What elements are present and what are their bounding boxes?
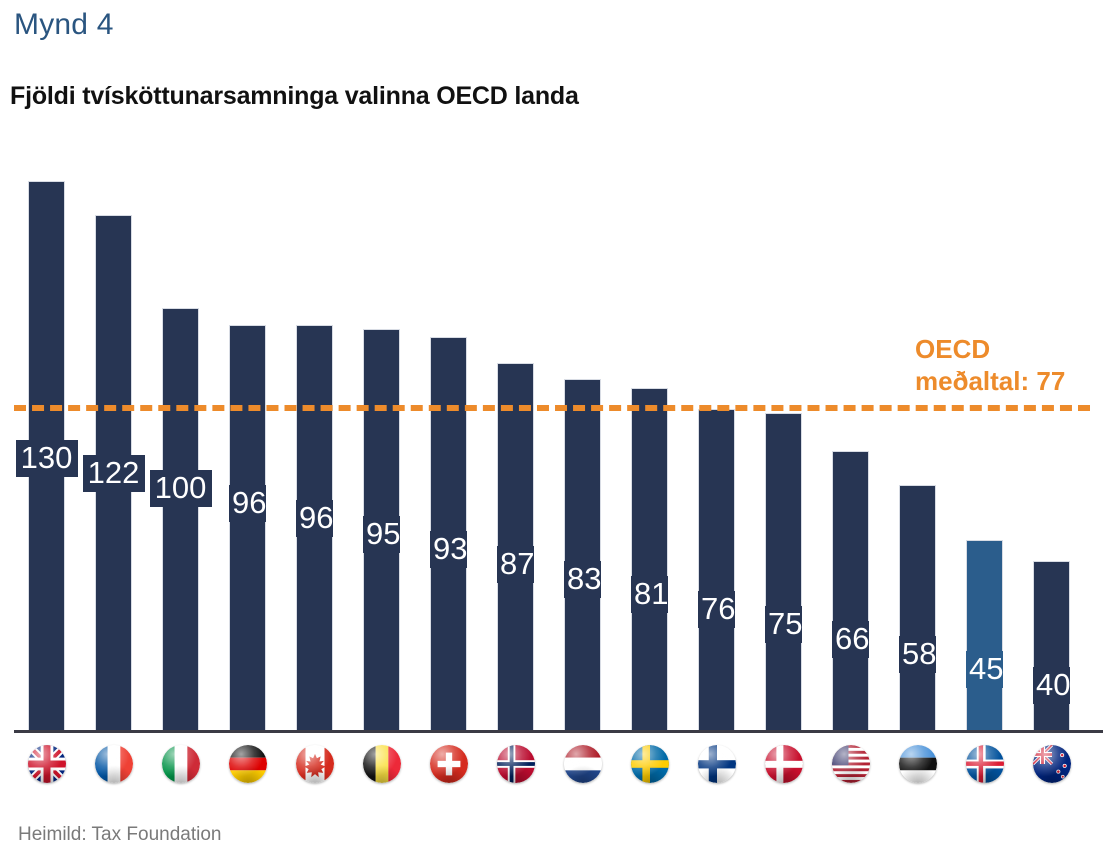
bar-value-label: 66	[832, 621, 869, 658]
flag-icon-finland	[698, 745, 736, 783]
bar[interactable]	[229, 325, 266, 730]
flag-icon-canada	[296, 745, 334, 783]
flag-icon-italy	[162, 745, 200, 783]
flag-icon-united-kingdom	[28, 745, 66, 783]
flag-icon-france	[95, 745, 133, 783]
bar-value-label: 100	[150, 470, 212, 507]
bar[interactable]	[162, 308, 199, 730]
bar-value-label: 81	[631, 576, 668, 613]
flag-icon-new-zealand	[1033, 745, 1071, 783]
flag-icon-sweden	[631, 745, 669, 783]
flag-icon-united-states	[832, 745, 870, 783]
flag-icon-denmark	[765, 745, 803, 783]
average-line	[14, 405, 1090, 411]
average-line-label: OECD meðaltal: 77	[915, 333, 1065, 397]
flag-icon-norway	[497, 745, 535, 783]
flag-icon-germany	[229, 745, 267, 783]
bar-value-label: 93	[430, 531, 467, 568]
bar-value-label: 130	[16, 440, 78, 477]
x-axis-line	[14, 730, 1103, 733]
bar[interactable]	[966, 540, 1003, 730]
flag-icon-switzerland	[430, 745, 468, 783]
bar-value-label: 76	[698, 591, 735, 628]
bar[interactable]	[899, 485, 936, 730]
bar[interactable]	[698, 409, 735, 730]
bar-value-label: 75	[765, 606, 802, 643]
bar-value-label: 45	[966, 651, 1003, 688]
bar-value-label: 83	[564, 561, 601, 598]
flag-icon-belgium	[363, 745, 401, 783]
bar-value-label: 58	[899, 636, 936, 673]
flag-icon-netherlands	[564, 745, 602, 783]
bar-value-label: 96	[296, 500, 333, 537]
flag-icon-iceland	[966, 745, 1004, 783]
bar-value-label: 122	[83, 455, 145, 492]
bar[interactable]	[1033, 561, 1070, 730]
bar[interactable]	[631, 388, 668, 730]
bar[interactable]	[564, 379, 601, 730]
bar-chart: 13012210096969593878381767566584540 OECD…	[0, 0, 1117, 865]
bar-value-label: 40	[1033, 667, 1070, 704]
source-note: Heimild: Tax Foundation	[18, 824, 221, 846]
flag-icon-estonia	[899, 745, 937, 783]
bar-value-label: 96	[229, 485, 266, 522]
bar-value-label: 95	[363, 516, 400, 553]
bar[interactable]	[832, 451, 869, 730]
bar[interactable]	[765, 413, 802, 730]
bar-value-label: 87	[497, 546, 534, 583]
